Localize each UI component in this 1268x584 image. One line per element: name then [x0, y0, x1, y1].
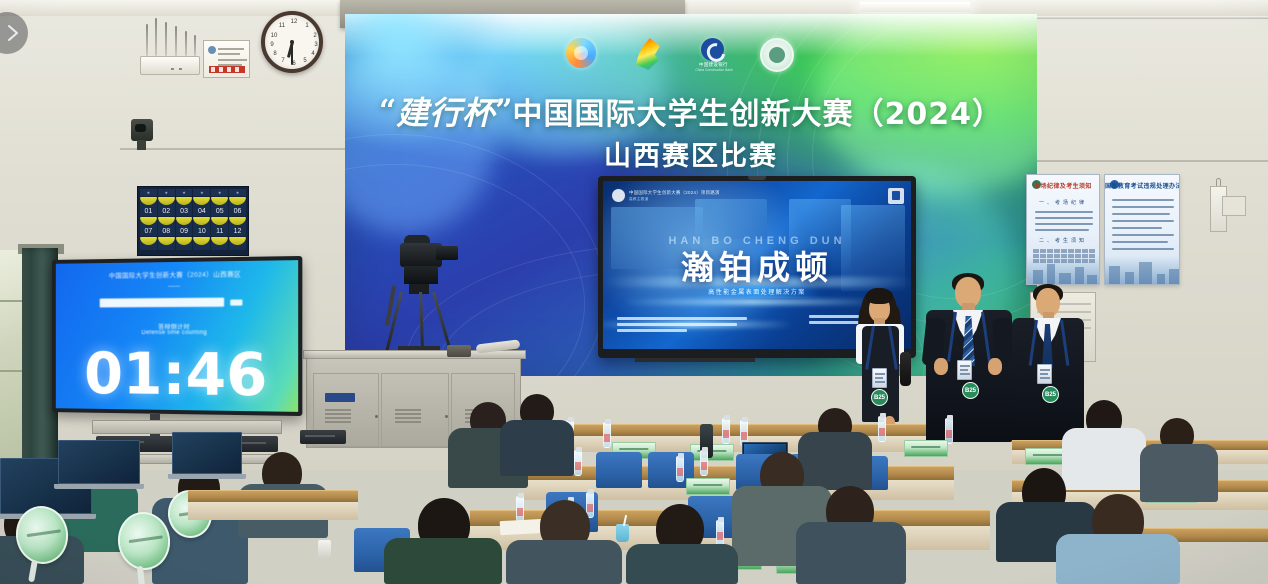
water-bottle: [878, 416, 886, 442]
phone-slot: [229, 237, 246, 250]
competition-cloud-logo: [566, 38, 602, 78]
water-bottle: [574, 450, 582, 476]
phone-slot: [211, 237, 228, 250]
exam-notice-poster-right: 国家教育考试违规处理办法: [1104, 174, 1180, 285]
phone-slot: [158, 237, 175, 250]
drink-cup: [318, 540, 331, 558]
slide-corner-badge: [888, 188, 904, 204]
phone-slot: 12: [229, 217, 246, 236]
desk-front-left: [188, 502, 358, 520]
phone-slot: 06: [229, 197, 246, 216]
countdown-project-bar: [100, 298, 224, 308]
water-bottle: [516, 496, 524, 522]
slide-header-text: 中国国际大学生创新大赛（2024）项目路演: [629, 190, 720, 196]
ceiling-lamp-right: [860, 2, 970, 12]
water-bottle: [700, 450, 708, 476]
countdown-monitor: 中国国际大学生创新大赛（2024）山西赛区 —— 答辩倒计时 Defense t…: [52, 256, 302, 416]
ccb-logo-en-text: China Construction Bank: [695, 68, 731, 73]
presenter-right-badge: B25: [1042, 386, 1059, 403]
phone-slot: 01: [140, 197, 157, 216]
banner-sponsor-cup: 建行杯: [396, 94, 495, 132]
phone-slot: 07: [140, 217, 157, 236]
pocket-chart-head-cell: ★: [229, 189, 246, 196]
banner-quote-close: ”: [495, 94, 512, 129]
presenter-left-id-card: [872, 368, 887, 388]
water-bottle: [676, 456, 684, 482]
pocket-chart-head-cell: ★: [176, 189, 193, 196]
countdown-project-bar-tail: [230, 299, 242, 305]
pocket-chart-head-cell: ★: [140, 189, 157, 196]
presenter-center-hand-left: [934, 358, 948, 375]
surveillance-camera: [131, 119, 153, 141]
chevron-right-icon: [6, 24, 20, 42]
banner-subtitle: 山西赛区比赛: [345, 134, 1037, 173]
wall-clock: 12 1 2 3 4 5 6 7 8 9 10 11: [261, 11, 323, 73]
poster-left-title: 考场纪律及考生须知: [1027, 181, 1099, 190]
china-construction-bank-logo: 中国建设银行 China Construction Bank: [695, 38, 731, 78]
pocket-chart-head-cell: ★: [158, 189, 175, 196]
phone-slot: 04: [193, 197, 210, 216]
poster-left-section1: 一、考场纪律: [1027, 199, 1099, 206]
countdown-stage-label-en: Defense time counting: [56, 330, 298, 336]
banner-title: “建行杯”中国国际大学生创新大赛（2024）: [345, 88, 1037, 134]
phone-slot: 09: [176, 217, 193, 236]
university-emblem-logo: [760, 38, 796, 78]
clock-minute-hand: [291, 42, 293, 65]
presenter-center-badge: B25: [962, 382, 979, 399]
presenter-left-badge: B25: [871, 389, 888, 406]
slide-org-logo: [612, 189, 625, 202]
slide-project-title: 瀚铂成顿: [603, 241, 911, 289]
water-bottle: [603, 422, 611, 448]
presenter-center-hand-right: [988, 358, 1002, 375]
phone-slot: 11: [211, 217, 228, 236]
poster-left-section2: 二、考生须知: [1027, 237, 1099, 244]
torch-flame-logo: [631, 38, 667, 78]
audience-chair: [596, 452, 642, 488]
tv-stand: [635, 358, 755, 362]
poster-right-title: 国家教育考试违规处理办法: [1105, 181, 1179, 190]
sponsor-logo-row: 中国建设银行 China Construction Bank: [566, 36, 796, 80]
wall-notice-sign: [203, 40, 250, 78]
tv-camera-dot: [748, 176, 766, 180]
name-placard: [686, 478, 730, 495]
phone-slot: 10: [193, 217, 210, 236]
banner-title-main: 中国国际大学生创新大赛（2024）: [513, 97, 1004, 132]
presenter-center-id-card: [957, 360, 972, 380]
wall-switch-plate: [1222, 196, 1246, 216]
phone-slot: 05: [211, 197, 228, 216]
desk-row-left: [188, 490, 358, 502]
countdown-divider: ——: [168, 284, 180, 290]
wall-seam-right: [1020, 16, 1268, 19]
slide-footer-left: [617, 317, 747, 335]
desk-papers: [500, 519, 545, 535]
phone-slot: [193, 237, 210, 250]
water-bottle: [722, 418, 730, 444]
exam-rules-poster-left: 考场纪律及考生须知 一、考场纪律 二、考生须知: [1026, 174, 1100, 285]
presenter-right-id-card: [1037, 364, 1052, 384]
drink-cup: [616, 524, 629, 542]
phone-storage-chart: ★ ★ ★ ★ ★ ★ 01 02 03 04 05 06 07 08 09 1…: [137, 186, 249, 256]
wall-seam-upper: [120, 148, 348, 150]
video-frame: 12 1 2 3 4 5 6 7 8 9 10 11 ★ ★ ★ ★ ★ ★ 0…: [0, 0, 1268, 584]
water-bottle: [716, 520, 724, 546]
phone-slot: [140, 237, 157, 250]
phone-slot: [176, 237, 193, 250]
cabinet-top-device: [447, 345, 471, 357]
phone-slot: 03: [176, 197, 193, 216]
wall-seam-right-lower: [1020, 160, 1268, 162]
slide-header-subtext: 高教主赛道: [629, 197, 648, 202]
pocket-chart-head-cell: ★: [211, 189, 228, 196]
banner-quote-open: “: [379, 94, 396, 129]
phone-slot: 02: [158, 197, 175, 216]
countdown-timer-value: 01:46: [56, 344, 298, 406]
phone-slot: 08: [158, 217, 175, 236]
handheld-microphone: [900, 352, 911, 386]
name-placard: [904, 440, 948, 457]
cabinet-label: [325, 393, 355, 402]
countdown-header: 中国国际大学生创新大赛（2024）山西赛区: [56, 267, 298, 280]
av-amplifier: [300, 430, 346, 444]
pocket-chart-head-cell: ★: [193, 189, 210, 196]
countdown-screen: 中国国际大学生创新大赛（2024）山西赛区 —— 答辩倒计时 Defense t…: [56, 260, 298, 412]
slide-ribbon-tagline: 高性能金属表面处理解决方案: [694, 285, 820, 298]
